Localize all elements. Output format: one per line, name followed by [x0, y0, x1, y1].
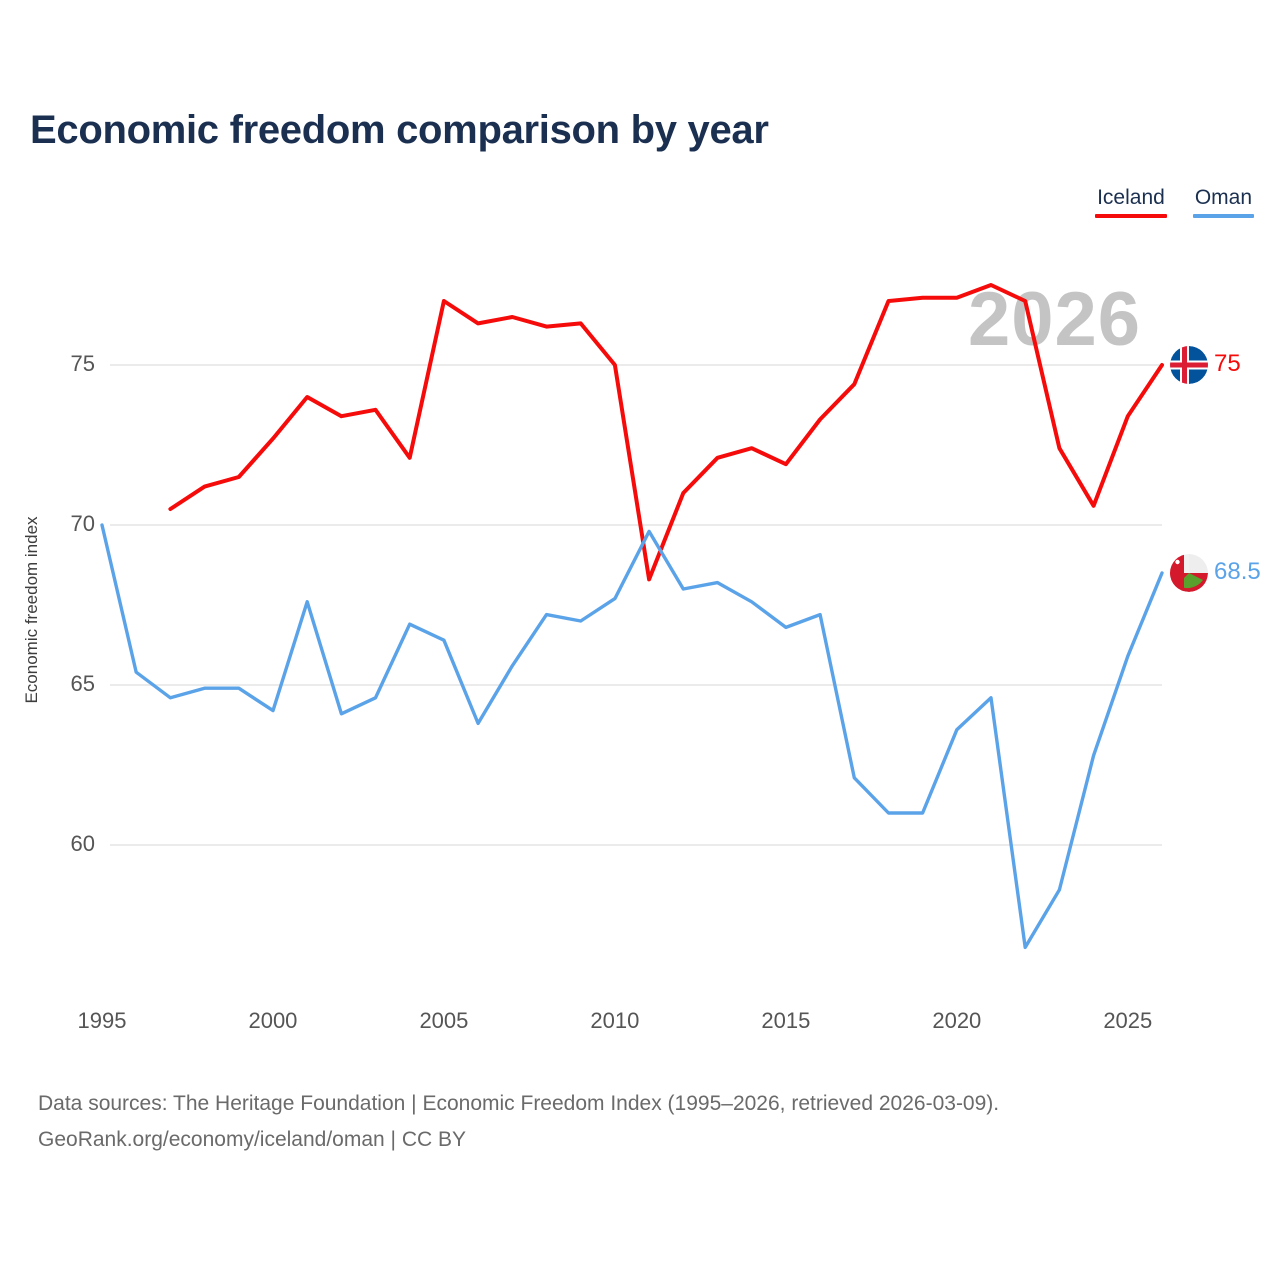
x-tick-label: 1995 — [42, 1008, 162, 1034]
series-line-oman — [102, 525, 1162, 947]
y-tick-label: 75 — [35, 351, 95, 377]
x-tick-label: 2010 — [555, 1008, 675, 1034]
oman-flag-icon — [1170, 554, 1208, 592]
x-tick-label: 2015 — [726, 1008, 846, 1034]
series-line-iceland — [170, 285, 1162, 579]
x-tick-label: 2025 — [1068, 1008, 1188, 1034]
footer-line-1: Data sources: The Heritage Foundation | … — [38, 1086, 999, 1122]
chart-page: Economic freedom comparison by year Icel… — [0, 0, 1280, 1280]
y-tick-label: 60 — [35, 831, 95, 857]
x-tick-label: 2020 — [897, 1008, 1017, 1034]
y-axis-title: Economic freedom index — [22, 460, 42, 760]
end-value-iceland: 75 — [1214, 350, 1241, 378]
x-tick-label: 2000 — [213, 1008, 333, 1034]
x-tick-label: 2005 — [384, 1008, 504, 1034]
y-tick-label: 65 — [35, 671, 95, 697]
footer-line-2: GeoRank.org/economy/iceland/oman | CC BY — [38, 1122, 999, 1158]
iceland-flag-icon — [1170, 346, 1208, 384]
y-tick-label: 70 — [35, 511, 95, 537]
end-value-oman: 68.5 — [1214, 558, 1261, 586]
footer-sources: Data sources: The Heritage Foundation | … — [38, 1086, 999, 1158]
